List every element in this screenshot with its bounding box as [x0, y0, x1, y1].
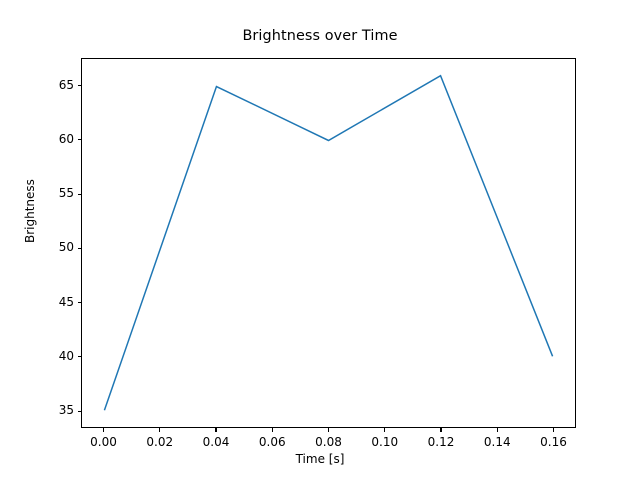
x-tick-label: 0.02 — [130, 435, 190, 449]
x-tick-label: 0.14 — [467, 435, 527, 449]
x-axis-label: Time [s] — [0, 452, 640, 466]
x-tick-label: 0.16 — [524, 435, 584, 449]
chart-title: Brightness over Time — [0, 28, 640, 44]
y-tick-label: 60 — [59, 132, 74, 146]
x-tick-mark — [440, 428, 441, 432]
y-tick-label: 45 — [59, 295, 74, 309]
y-tick-label: 35 — [59, 403, 74, 417]
y-tick-label: 50 — [59, 240, 74, 254]
x-tick-mark — [328, 428, 329, 432]
data-layer — [82, 59, 575, 427]
x-tick-mark — [103, 428, 104, 432]
x-tick-mark — [384, 428, 385, 432]
y-tick-label: 65 — [59, 78, 74, 92]
x-tick-label: 0.04 — [186, 435, 246, 449]
y-axis-label: Brightness — [23, 179, 37, 243]
plot-area — [81, 58, 576, 428]
x-tick-mark — [272, 428, 273, 432]
y-tick-label: 55 — [59, 186, 74, 200]
x-tick-label: 0.12 — [411, 435, 471, 449]
x-tick-label: 0.06 — [242, 435, 302, 449]
line-series-brightness — [104, 76, 552, 411]
x-tick-mark — [497, 428, 498, 432]
figure-canvas: Brightness over Time Brightness Time [s]… — [0, 0, 640, 480]
x-tick-label: 0.00 — [74, 435, 134, 449]
x-tick-mark — [553, 428, 554, 432]
x-tick-mark — [215, 428, 216, 432]
x-tick-label: 0.08 — [299, 435, 359, 449]
y-tick-label: 40 — [59, 349, 74, 363]
x-tick-mark — [159, 428, 160, 432]
x-tick-label: 0.10 — [355, 435, 415, 449]
